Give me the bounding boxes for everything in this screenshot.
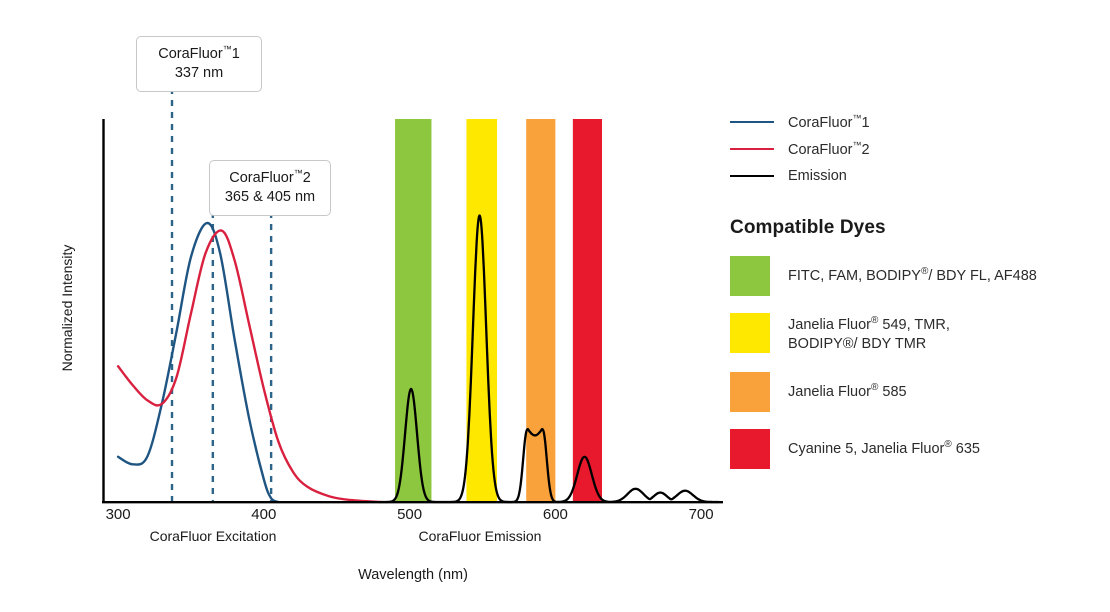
green-band [395,119,431,502]
callout-corafluor1: CoraFluor™1 337 nm [136,36,262,92]
legend-row-2: Emission [730,162,1100,189]
dye-label-line1: Janelia Fluor® 585 [788,381,907,402]
dye-label: FITC, FAM, BODIPY®/ BDY FL, AF488 [788,256,1037,286]
registered-symbol: ® [944,439,951,450]
trademark-symbol: ™ [852,113,861,123]
region-label-emission: CoraFluor Emission [360,528,600,544]
dye-row-0: FITC, FAM, BODIPY®/ BDY FL, AF488 [730,256,1100,296]
spectra-figure: CoraFluor™1 337 nm CoraFluor™2 365 & 405… [0,0,1110,612]
callout-cf1-line2: 337 nm [147,64,251,84]
dye-label-line1: Janelia Fluor® 549, TMR, [788,314,950,335]
registered-symbol: ® [921,266,928,277]
excitation-marker-lines [172,88,271,502]
registered-symbol: ® [871,315,878,326]
legend-row-0: CoraFluor™1 [730,108,1100,135]
dye-label: Cyanine 5, Janelia Fluor® 635 [788,429,980,459]
dye-color-swatch [730,313,770,353]
dye-label-line2: BODIPY®/ BDY TMR [788,335,950,355]
orange-band [526,119,555,502]
callout-corafluor2: CoraFluor™2 365 & 405 nm [209,160,331,216]
region-label-excitation: CoraFluor Excitation [93,528,333,544]
compatible-dyes-heading: Compatible Dyes [730,217,1100,239]
trademark-symbol: ™ [223,44,232,54]
line-legend: CoraFluor™1CoraFluor™2Emission [730,108,1100,189]
legend-line-label: CoraFluor™1 [788,113,870,131]
legend-line-label: Emission [788,168,847,184]
trademark-symbol: ™ [294,168,303,178]
dye-label-line1: Cyanine 5, Janelia Fluor® 635 [788,438,980,459]
curve-corafluor1 [118,223,278,502]
callout-cf2-line2: 365 & 405 nm [220,188,320,208]
dye-label-line1: FITC, FAM, BODIPY®/ BDY FL, AF488 [788,265,1037,286]
legend-panel: CoraFluor™1CoraFluor™2Emission Compatibl… [730,108,1100,469]
x-axis-title: Wavelength (nm) [293,567,533,583]
x-tick-600: 600 [525,506,585,523]
x-tick-300: 300 [88,506,148,523]
compatible-dyes-list: FITC, FAM, BODIPY®/ BDY FL, AF488Janelia… [730,256,1100,469]
dye-label: Janelia Fluor® 549, TMR,BODIPY®/ BDY TMR [788,313,950,355]
legend-line-swatch-icon [730,148,774,150]
x-tick-400: 400 [234,506,294,523]
red-band [573,119,602,502]
dye-color-swatch [730,372,770,412]
callout-cf1-line1: CoraFluor™1 [147,43,251,64]
band-group [395,119,602,502]
dye-color-swatch [730,429,770,469]
legend-line-label: CoraFluor™2 [788,140,870,158]
curve-corafluor2 [118,230,380,502]
legend-line-swatch-icon [730,175,774,177]
x-tick-500: 500 [380,506,440,523]
dye-row-1: Janelia Fluor® 549, TMR,BODIPY®/ BDY TMR [730,313,1100,355]
legend-line-swatch-icon [730,121,774,123]
registered-symbol: ® [871,382,878,393]
x-tick-700: 700 [671,506,731,523]
callout-cf2-line1: CoraFluor™2 [220,167,320,188]
dye-row-2: Janelia Fluor® 585 [730,372,1100,412]
dye-label: Janelia Fluor® 585 [788,372,907,402]
trademark-symbol: ™ [852,140,861,150]
dye-color-swatch [730,256,770,296]
legend-row-1: CoraFluor™2 [730,135,1100,162]
dye-row-3: Cyanine 5, Janelia Fluor® 635 [730,429,1100,469]
y-axis-title: Normalized Intensity [59,218,75,398]
